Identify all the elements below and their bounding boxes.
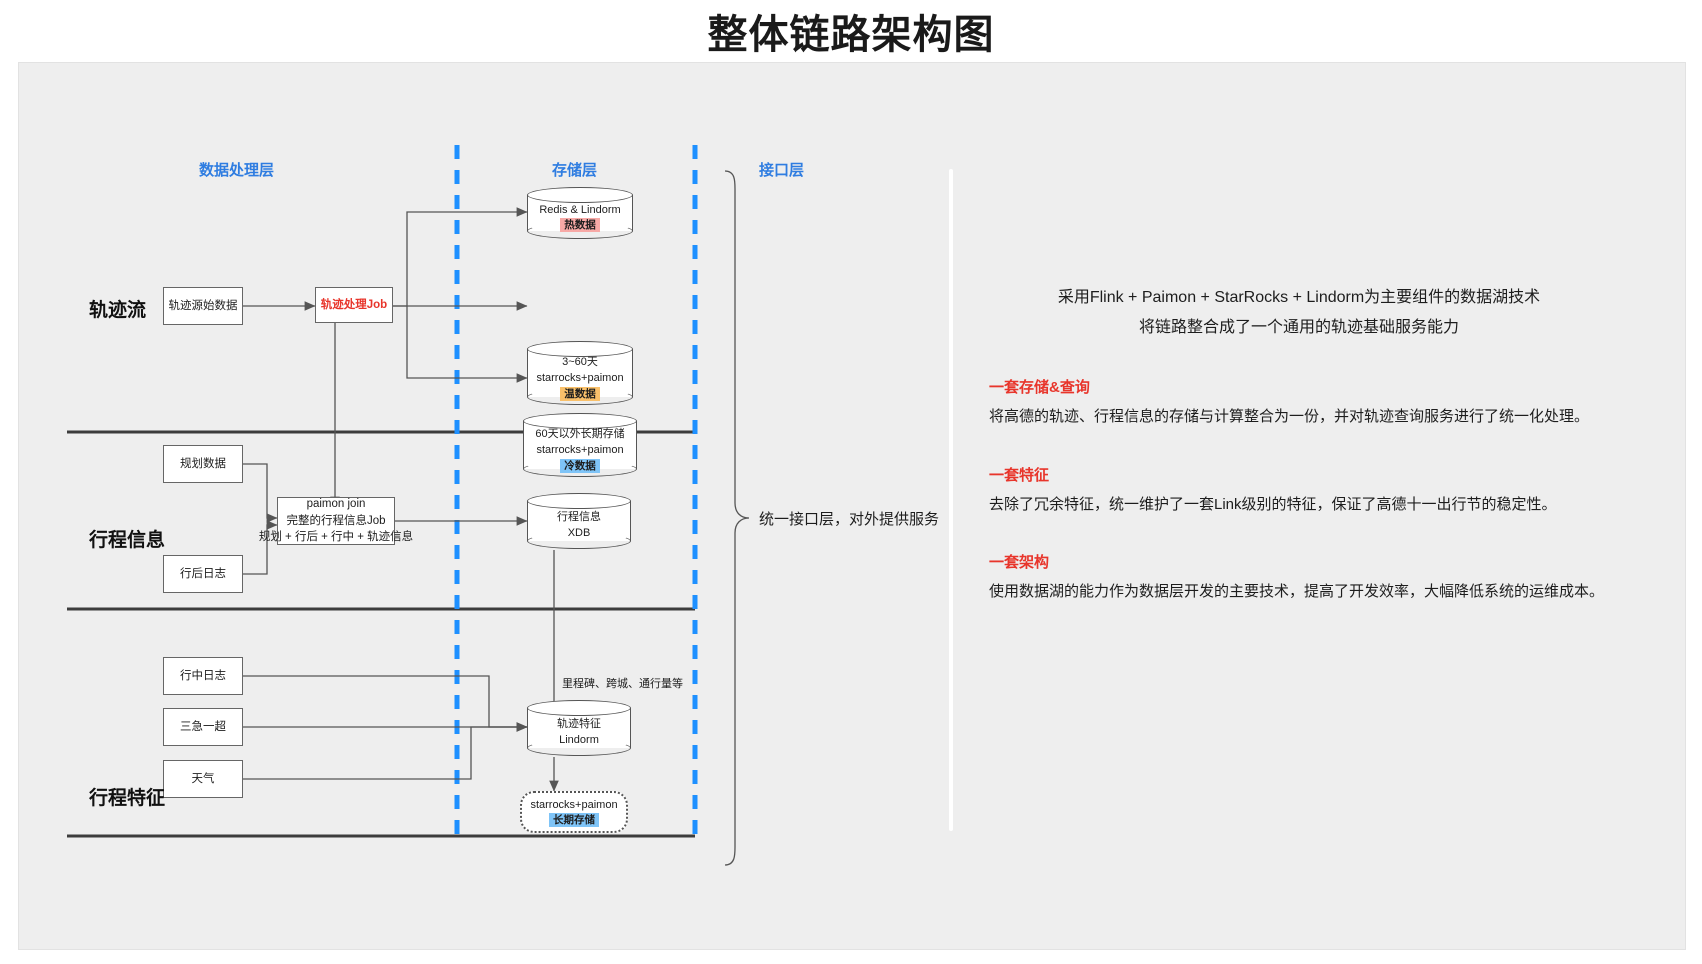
- interface-brace-label: 统一接口层，对外提供服务: [759, 508, 939, 529]
- panel-headline-line2: 将链路整合成了一个通用的轨迹基础服务能力: [949, 313, 1649, 343]
- node-weather[interactable]: 天气: [163, 760, 243, 798]
- page-title: 整体链路架构图: [0, 2, 1702, 60]
- diagram-canvas: 数据处理层 存储层 接口层 轨迹流 行程信息 行程特征 轨迹源始数据 轨迹处理J…: [18, 62, 1686, 950]
- store-cold-data-label: 60天以外长期存储 starrocks+paimon 冷数据: [523, 427, 637, 471]
- panel-section-architecture: 一套架构 使用数据湖的能力作为数据层开发的主要技术，提高了开发效率，大幅降低系统…: [949, 551, 1649, 605]
- store-trip-info-xdb[interactable]: 行程信息 XDB: [527, 493, 631, 549]
- panel-section-body: 将高德的轨迹、行程信息的存储与计算整合为一份，并对轨迹查询服务进行了统一化处理。: [989, 404, 1625, 430]
- store-cold-data-line1: 60天以外长期存储: [535, 426, 624, 443]
- store-cold-data[interactable]: 60天以外长期存储 starrocks+paimon 冷数据: [523, 413, 637, 477]
- store-trip-info-xdb-label: 行程信息 XDB: [527, 507, 631, 543]
- flow-trip-features: [243, 676, 554, 791]
- node-paimon-join-line3: 规划 + 行后 + 行中 + 轨迹信息: [259, 529, 413, 546]
- interface-brace: [725, 171, 749, 865]
- store-trip-info-line1: 行程信息: [557, 509, 601, 526]
- panel-section-body: 去除了冗余特征，统一维护了一套Link级别的特征，保证了高德十一出行节的稳定性。: [989, 492, 1625, 518]
- panel-section-title: 一套架构: [989, 551, 1625, 572]
- store-traj-feature-line1: 轨迹特征: [557, 716, 601, 733]
- node-paimon-join-line2: 完整的行程信息Job: [286, 513, 385, 530]
- node-in-trip-log-label: 行中日志: [180, 668, 226, 685]
- node-trajectory-processing-job-label: 轨迹处理Job: [321, 297, 387, 314]
- edge-label-feature-metrics: 里程碑、跨城、通行量等: [562, 675, 683, 691]
- store-trajectory-feature-label: 轨迹特征 Lindorm: [527, 714, 631, 750]
- store-cold-data-line2: starrocks+paimon: [536, 442, 623, 459]
- store-trajectory-feature[interactable]: 轨迹特征 Lindorm: [527, 700, 631, 756]
- store-hot-data-label: Redis & Lindorm 热数据: [527, 201, 633, 233]
- panel-section-body: 使用数据湖的能力作为数据层开发的主要技术，提高了开发效率，大幅降低系统的运维成本…: [989, 579, 1625, 605]
- store-hot-data-line1: Redis & Lindorm: [539, 202, 620, 219]
- node-paimon-join-job[interactable]: paimon join 完整的行程信息Job 规划 + 行后 + 行中 + 轨迹…: [277, 497, 395, 545]
- column-title-interface: 接口层: [759, 159, 804, 180]
- store-warm-data-label: 3~60天 starrocks+paimon 温数据: [527, 355, 633, 399]
- panel-section-title: 一套特征: [989, 464, 1625, 485]
- node-in-trip-log[interactable]: 行中日志: [163, 657, 243, 695]
- column-title-storage: 存储层: [552, 159, 597, 180]
- node-trajectory-processing-job[interactable]: 轨迹处理Job: [315, 287, 393, 323]
- status-badge-hot: 热数据: [560, 218, 600, 232]
- node-raw-trajectory-data-label: 轨迹源始数据: [169, 298, 238, 315]
- status-badge-longterm: 长期存储: [549, 813, 599, 827]
- architecture-diagram-page: 整体链路架构图: [0, 0, 1702, 964]
- flow-trajectory: [243, 212, 527, 507]
- panel-section-title: 一套存储&查询: [989, 376, 1625, 397]
- panel-headline: 采用Flink + Paimon + StarRocks + Lindorm为主…: [949, 283, 1649, 342]
- panel-section-features: 一套特征 去除了冗余特征，统一维护了一套Link级别的特征，保证了高德十一出行节…: [949, 464, 1649, 518]
- store-warm-data[interactable]: 3~60天 starrocks+paimon 温数据: [527, 341, 633, 405]
- store-warm-data-line1: 3~60天: [562, 354, 598, 371]
- store-hot-data[interactable]: Redis & Lindorm 热数据: [527, 187, 633, 239]
- store-traj-feature-line2: Lindorm: [559, 732, 599, 749]
- node-three-sudden-label: 三急一超: [180, 719, 226, 736]
- summary-panel: 采用Flink + Paimon + StarRocks + Lindorm为主…: [949, 169, 1649, 605]
- store-warm-data-line2: starrocks+paimon: [536, 370, 623, 387]
- node-post-trip-log-label: 行后日志: [180, 566, 226, 583]
- lane-title-trajectory-stream: 轨迹流: [89, 295, 146, 322]
- panel-headline-line1: 采用Flink + Paimon + StarRocks + Lindorm为主…: [949, 283, 1649, 313]
- node-raw-trajectory-data[interactable]: 轨迹源始数据: [163, 287, 243, 325]
- node-post-trip-log[interactable]: 行后日志: [163, 555, 243, 593]
- lane-title-trip-features: 行程特征: [89, 783, 165, 810]
- status-badge-warm: 温数据: [560, 387, 600, 401]
- store-longterm-paimon[interactable]: starrocks+paimon 长期存储: [520, 791, 628, 833]
- column-title-processing: 数据处理层: [199, 159, 274, 180]
- node-plan-data-label: 规划数据: [180, 456, 226, 473]
- lane-title-trip-info: 行程信息: [89, 525, 165, 552]
- status-badge-cold: 冷数据: [560, 459, 600, 473]
- store-trip-info-line2: XDB: [568, 525, 591, 542]
- node-plan-data[interactable]: 规划数据: [163, 445, 243, 483]
- node-weather-label: 天气: [192, 771, 215, 788]
- node-paimon-join-line1: paimon join: [307, 496, 366, 513]
- node-three-sudden[interactable]: 三急一超: [163, 708, 243, 746]
- panel-section-storage-query: 一套存储&查询 将高德的轨迹、行程信息的存储与计算整合为一份，并对轨迹查询服务进…: [949, 376, 1649, 430]
- store-longterm-line1: starrocks+paimon: [530, 797, 617, 814]
